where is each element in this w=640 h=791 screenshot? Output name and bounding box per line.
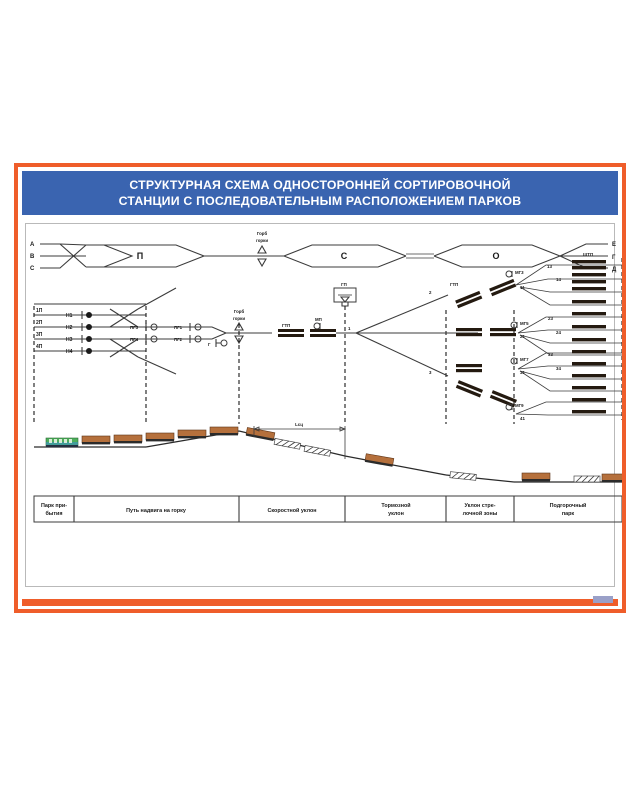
main-plan: 1П 2П 3П 4П Н1 Н2 <box>34 252 622 424</box>
title-line-2: СТАНЦИИ С ПОСЛЕДОВАТЕЛЬНЫМ РАСПОЛОЖЕНИЕМ… <box>119 193 522 209</box>
legend-cell-speed-grade: Скоростной уклон <box>268 507 317 514</box>
schematic-hump-label-2: горки <box>256 238 268 243</box>
group-signal-label-mg7: МГ7 <box>520 357 529 362</box>
freight-car <box>210 427 238 435</box>
rolling-car-empty <box>574 476 600 482</box>
legend-cell-arrival-park: Парк при- бытия <box>41 503 67 517</box>
beam-number-41: 41 <box>520 416 525 421</box>
schematic-park-p: П <box>137 251 143 261</box>
hump-tower-label: ГП <box>341 282 347 287</box>
legend-line-2: уклон <box>388 511 404 517</box>
hump-signal-label-pg4: ПГ4 <box>130 337 139 342</box>
classification-park-shtp: ШТП <box>572 252 606 413</box>
poster-inner: СТРУКТУРНАЯ СХЕМА ОДНОСТОРОННЕЙ СОРТИРОВ… <box>18 167 622 609</box>
retarder-gtp-first: ГТП <box>278 323 304 337</box>
legend-line-2: бытия <box>45 510 62 517</box>
track-label-b: В <box>30 254 35 260</box>
switch-number-3: 3 <box>429 370 432 375</box>
legend-line-1: Путь надвига на горку <box>126 508 186 514</box>
entry-signal-label-h2: Н2 <box>66 325 73 331</box>
corner-mark <box>593 596 613 603</box>
fan-bottom <box>516 402 622 415</box>
legend-line-1: Подгорочный <box>550 502 587 509</box>
group-signal-mg9: МГ9 <box>506 403 524 410</box>
plan-hump-label-1: Горб <box>234 309 245 314</box>
legend-cell-classification-park: Подгорочный парк <box>550 502 587 517</box>
schematic-hump-triangle-down <box>258 259 266 266</box>
freight-car <box>146 433 174 441</box>
hump-signal-label-g: Г <box>208 342 211 347</box>
rolling-car-group <box>246 427 622 482</box>
switch-number-2: 2 <box>429 290 432 295</box>
legend-row: Парк при- бытия Путь надвига на горку Ск… <box>34 496 622 522</box>
dimension-lsc: Lсц <box>254 422 345 459</box>
schematic-hump-triangle-up <box>258 246 266 253</box>
fan-upper <box>516 265 622 305</box>
hump-signal-g: Г <box>208 339 227 347</box>
entry-signal-label-h4: Н4 <box>66 349 73 355</box>
rolling-car-empty <box>274 438 301 449</box>
locomotive <box>46 438 78 447</box>
group-signal-label-mg5: МГ5 <box>520 321 529 326</box>
beam-number-34: 34 <box>556 366 561 371</box>
arrival-track-1p: 1П <box>36 308 43 314</box>
retarder-gtp-second: ГТП <box>450 279 516 308</box>
legend-line-1: Парк при- <box>41 503 67 509</box>
retarder-mp: МП <box>310 317 336 337</box>
retarder-label-mp: МП <box>315 317 322 322</box>
diagram-svg: А В С П <box>26 224 622 594</box>
rolling-car-empty <box>304 445 331 456</box>
profile-view: Lсц <box>34 422 622 482</box>
arrival-track-4p: 4П <box>36 344 43 350</box>
schematic-park-s: С <box>341 251 348 261</box>
schematic-park-o: О <box>492 251 499 261</box>
group-signal-mg3: МГ3 <box>506 270 524 277</box>
poster-title: СТРУКТУРНАЯ СХЕМА ОДНОСТОРОННЕЙ СОРТИРОВ… <box>119 177 522 209</box>
hump-tower-gp: ГП <box>334 282 356 306</box>
plan-hump-label-2: горки <box>233 316 245 321</box>
top-schematic: А В С П <box>30 231 617 273</box>
schematic-hump-label-1: Горб <box>257 231 268 236</box>
rolling-car <box>246 427 275 441</box>
freight-car <box>114 435 142 443</box>
title-line-1: СТРУКТУРНАЯ СХЕМА ОДНОСТОРОННЕЙ СОРТИРОВ… <box>119 177 522 193</box>
track-label-c: С <box>30 266 35 272</box>
entry-signal-label-h1: Н1 <box>66 313 73 319</box>
poster-title-bar: СТРУКТУРНАЯ СХЕМА ОДНОСТОРОННЕЙ СОРТИРОВ… <box>22 171 618 215</box>
fan-middle <box>518 317 622 355</box>
beam-number-14: 14 <box>556 277 561 282</box>
arrival-track-3p: 3П <box>36 332 43 338</box>
legend-cell-brake-grade: Тормозной уклон <box>381 502 410 517</box>
classification-park-label: ШТП <box>583 252 593 257</box>
diagram-work-area: А В С П <box>25 223 615 587</box>
rolling-car <box>365 454 394 467</box>
poster: СТРУКТУРНАЯ СХЕМА ОДНОСТОРОННЕЙ СОРТИРОВ… <box>14 163 626 613</box>
retarder-label-gtp-2: ГТП <box>450 282 458 287</box>
track-label-d: Д <box>612 267 617 273</box>
retarder-lower <box>456 364 517 407</box>
legend-cell-hump-approach: Путь надвига на горку <box>126 508 186 514</box>
track-label-e: Е <box>612 242 616 248</box>
track-label-g: Г <box>612 255 616 261</box>
rolling-car-empty <box>450 472 476 481</box>
retarder-label-gtp-1: ГТП <box>282 323 290 328</box>
poster-bottom-band <box>22 599 618 606</box>
switch-number-1: 1 <box>348 326 351 331</box>
rolling-car <box>522 473 550 481</box>
legend-line-1: Скоростной уклон <box>268 507 317 514</box>
entry-signal-label-h3: Н3 <box>66 337 73 343</box>
rolling-car <box>602 474 622 482</box>
freight-car <box>178 430 206 438</box>
arrival-track-2p: 2П <box>36 320 43 326</box>
hump-signal-label-pg3: ПГ3 <box>130 325 139 330</box>
fan-lower <box>518 353 622 391</box>
dimension-label-lsc: Lсц <box>295 422 303 427</box>
legend-line-2: парк <box>562 511 575 517</box>
track-label-a: А <box>30 242 35 248</box>
group-signal-label-mg3: МГ3 <box>515 270 524 275</box>
legend-line-2: лочной зоны <box>463 510 498 517</box>
group-signal-label-mg9: МГ9 <box>515 403 524 408</box>
beam-number-24: 24 <box>556 330 561 335</box>
retarder-middle <box>456 328 516 336</box>
legend-line-1: Уклон стре- <box>464 503 495 509</box>
classification-track-hatches <box>572 260 606 413</box>
freight-car <box>82 436 110 444</box>
legend-line-1: Тормозной <box>381 502 410 509</box>
legend-cell-switch-zone-grade: Уклон стре- лочной зоны <box>463 503 498 517</box>
